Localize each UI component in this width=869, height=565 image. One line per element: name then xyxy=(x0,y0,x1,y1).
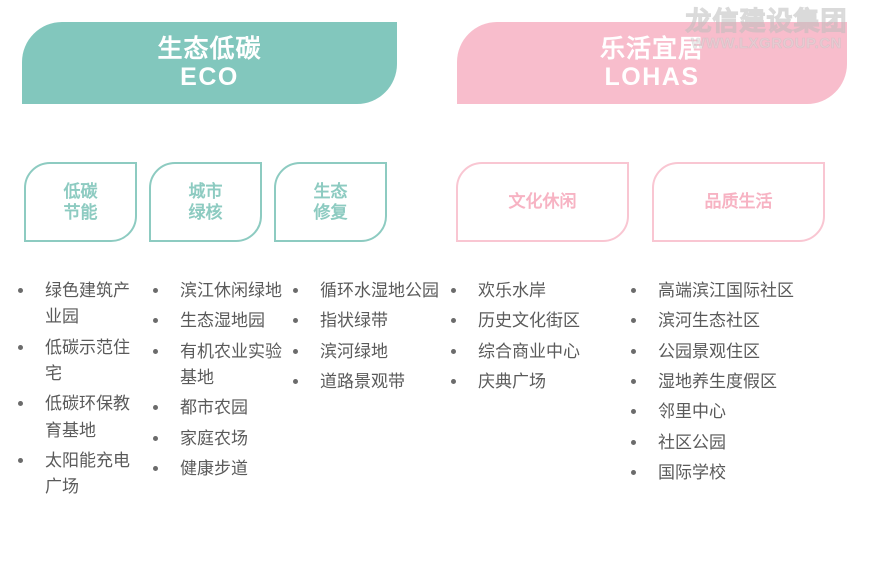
list-item: 欢乐水岸 xyxy=(445,278,621,304)
list-item: 太阳能充电广场 xyxy=(12,448,143,501)
tag-label: 品质生活 xyxy=(705,191,773,212)
list-item: 指状绿带 xyxy=(287,308,441,334)
tag-label: 文化休闲 xyxy=(509,191,577,212)
list-1: 绿色建筑产业园低碳示范住宅低碳环保教育基地太阳能充电广场 xyxy=(12,278,143,501)
tag-label: 低碳节能 xyxy=(64,181,98,224)
list-item: 绿色建筑产业园 xyxy=(12,278,143,331)
list-item: 历史文化街区 xyxy=(445,308,621,334)
list-item: 滨江休闲绿地 xyxy=(147,278,283,304)
tag-eco-urban-green-core[interactable]: 城市绿核 xyxy=(149,162,262,242)
list-item: 道路景观带 xyxy=(287,369,441,395)
list-4: 欢乐水岸历史文化街区综合商业中心庆典广场 xyxy=(445,278,621,395)
list-item: 公园景观住区 xyxy=(625,339,841,365)
banner-eco: 生态低碳 ECO xyxy=(22,22,397,104)
tag-eco-ecological-restoration[interactable]: 生态修复 xyxy=(274,162,387,242)
list-column-4: 欢乐水岸历史文化街区综合商业中心庆典广场 xyxy=(445,278,625,505)
list-item: 邻里中心 xyxy=(625,399,841,425)
banner-eco-title-en: ECO xyxy=(180,64,239,91)
list-item: 生态湿地园 xyxy=(147,308,283,334)
list-item: 低碳示范住宅 xyxy=(12,335,143,388)
tag-eco-low-carbon-energy-saving[interactable]: 低碳节能 xyxy=(24,162,137,242)
list-item: 都市农园 xyxy=(147,395,283,421)
list-3: 循环水湿地公园指状绿带滨河绿地道路景观带 xyxy=(287,278,441,395)
banner-lohas-title-cn: 乐活宜居 xyxy=(600,36,704,63)
tag-lohas-quality-living[interactable]: 品质生活 xyxy=(652,162,825,242)
list-item: 有机农业实验基地 xyxy=(147,339,283,392)
list-item: 滨河绿地 xyxy=(287,339,441,365)
list-item: 循环水湿地公园 xyxy=(287,278,441,304)
list-item: 滨河生态社区 xyxy=(625,308,841,334)
list-column-5: 高端滨江国际社区滨河生态社区公园景观住区湿地养生度假区邻里中心社区公园国际学校 xyxy=(625,278,845,505)
banner-lohas-title-en: LOHAS xyxy=(605,64,700,91)
banner-lohas: 乐活宜居 LOHAS xyxy=(457,22,847,104)
list-column-3: 循环水湿地公园指状绿带滨河绿地道路景观带 xyxy=(287,278,445,505)
list-item: 低碳环保教育基地 xyxy=(12,391,143,444)
list-item: 庆典广场 xyxy=(445,369,621,395)
list-2: 滨江休闲绿地生态湿地园有机农业实验基地都市农园家庭农场健康步道 xyxy=(147,278,283,482)
tag-label: 城市绿核 xyxy=(189,181,223,224)
list-item: 国际学校 xyxy=(625,460,841,486)
list-5: 高端滨江国际社区滨河生态社区公园景观住区湿地养生度假区邻里中心社区公园国际学校 xyxy=(625,278,841,486)
list-item: 健康步道 xyxy=(147,456,283,482)
tag-row-eco: 低碳节能 城市绿核 生态修复 xyxy=(24,162,387,242)
list-item: 湿地养生度假区 xyxy=(625,369,841,395)
list-column-2: 滨江休闲绿地生态湿地园有机农业实验基地都市农园家庭农场健康步道 xyxy=(147,278,287,505)
tag-lohas-culture-leisure[interactable]: 文化休闲 xyxy=(456,162,629,242)
list-item: 高端滨江国际社区 xyxy=(625,278,841,304)
list-item: 家庭农场 xyxy=(147,426,283,452)
list-columns: 绿色建筑产业园低碳示范住宅低碳环保教育基地太阳能充电广场 滨江休闲绿地生态湿地园… xyxy=(12,278,857,505)
list-column-1: 绿色建筑产业园低碳示范住宅低碳环保教育基地太阳能充电广场 xyxy=(12,278,147,505)
banner-eco-title-cn: 生态低碳 xyxy=(157,36,261,63)
tag-row-lohas: 文化休闲 品质生活 xyxy=(456,162,825,242)
tag-label: 生态修复 xyxy=(314,181,348,224)
infographic-board: 生态低碳 ECO 乐活宜居 LOHAS 低碳节能 城市绿核 生态修复 文化休闲 … xyxy=(0,0,869,565)
list-item: 社区公园 xyxy=(625,430,841,456)
list-item: 综合商业中心 xyxy=(445,339,621,365)
